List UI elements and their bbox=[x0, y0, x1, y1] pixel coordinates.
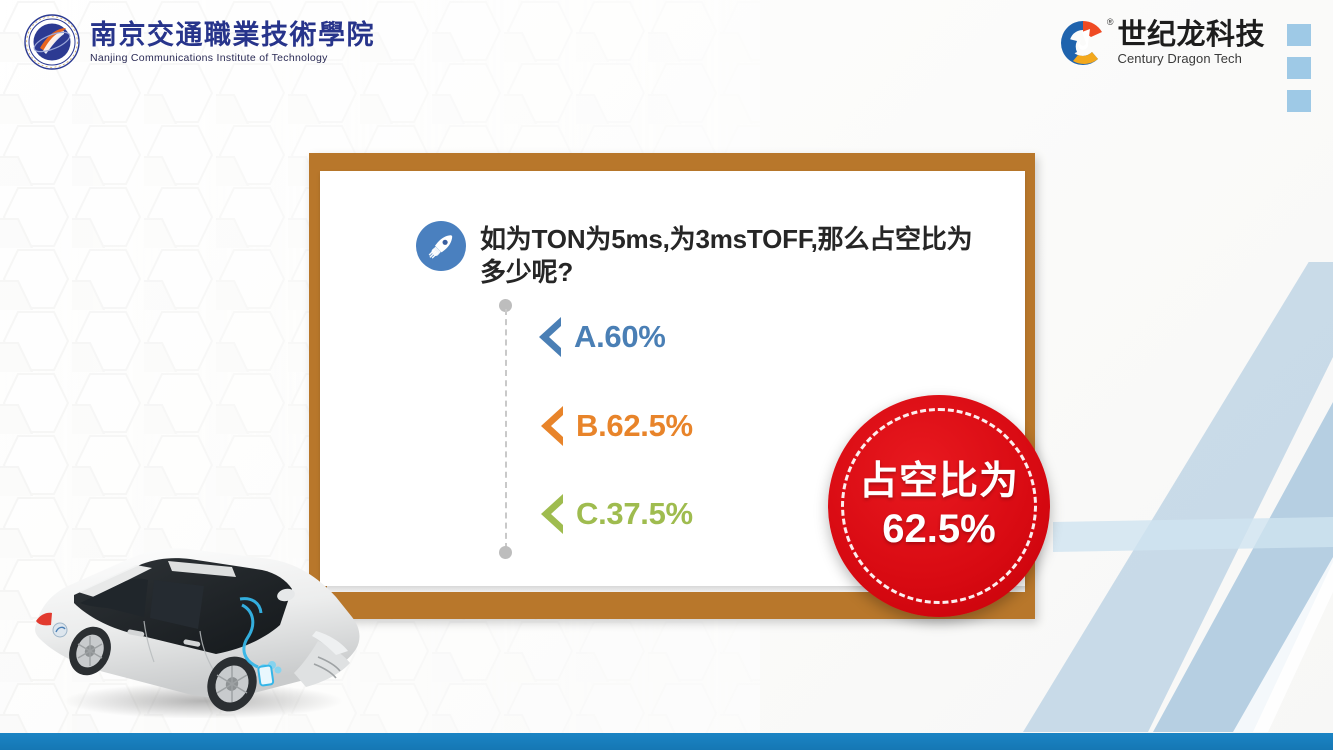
timeline-rail bbox=[505, 309, 507, 549]
header-square-decoration bbox=[1287, 24, 1311, 112]
decor-square-3 bbox=[1287, 90, 1311, 112]
question-block: 如为TON为5ms,为3msTOFF,那么占空比为多少呢? bbox=[416, 221, 986, 290]
option-c-label: C.37.5% bbox=[576, 496, 693, 532]
answer-badge-line1: 占空比为 bbox=[859, 460, 1019, 505]
chevron-left-icon bbox=[531, 314, 565, 360]
answer-badge-line2: 62.5% bbox=[882, 506, 995, 552]
decor-square-2 bbox=[1287, 57, 1311, 79]
option-a[interactable]: A.60% bbox=[531, 314, 666, 360]
option-b-label: B.62.5% bbox=[576, 408, 693, 444]
university-seal-icon bbox=[24, 14, 80, 70]
century-dragon-logo-icon: ® bbox=[1058, 18, 1108, 68]
company-name-cn: 世纪龙科技 bbox=[1117, 20, 1265, 52]
electric-car-illustration bbox=[18, 533, 378, 718]
option-a-label: A.60% bbox=[574, 319, 666, 355]
university-name-cn: 南京交通職業技術學院 bbox=[90, 20, 375, 51]
registered-trademark-icon: ® bbox=[1107, 17, 1114, 27]
footer-band bbox=[0, 733, 1333, 750]
company-name-block: 世纪龙科技 Century Dragon Tech bbox=[1117, 20, 1265, 66]
chevron-left-icon bbox=[533, 491, 567, 537]
slide-header: 南京交通職業技術學院 Nanjing Communications Instit… bbox=[0, 0, 1333, 120]
option-c[interactable]: C.37.5% bbox=[533, 491, 693, 537]
university-name-block: 南京交通職業技術學院 Nanjing Communications Instit… bbox=[90, 20, 375, 64]
rocket-icon bbox=[416, 221, 466, 271]
company-name-en: Century Dragon Tech bbox=[1117, 51, 1265, 66]
university-logo: 南京交通職業技術學院 Nanjing Communications Instit… bbox=[24, 14, 375, 70]
question-text: 如为TON为5ms,为3msTOFF,那么占空比为多少呢? bbox=[480, 221, 980, 290]
university-name-en: Nanjing Communications Institute of Tech… bbox=[90, 52, 375, 64]
options-timeline bbox=[499, 299, 513, 559]
timeline-dot-bottom bbox=[499, 546, 512, 559]
answer-badge: 占空比为 62.5% bbox=[828, 395, 1050, 617]
option-b[interactable]: B.62.5% bbox=[533, 403, 693, 449]
decor-square-1 bbox=[1287, 24, 1311, 46]
slide-canvas: 南京交通職業技術學院 Nanjing Communications Instit… bbox=[0, 0, 1333, 750]
chevron-left-icon bbox=[533, 403, 567, 449]
company-logo: ® 世纪龙科技 Century Dragon Tech bbox=[1058, 18, 1265, 68]
